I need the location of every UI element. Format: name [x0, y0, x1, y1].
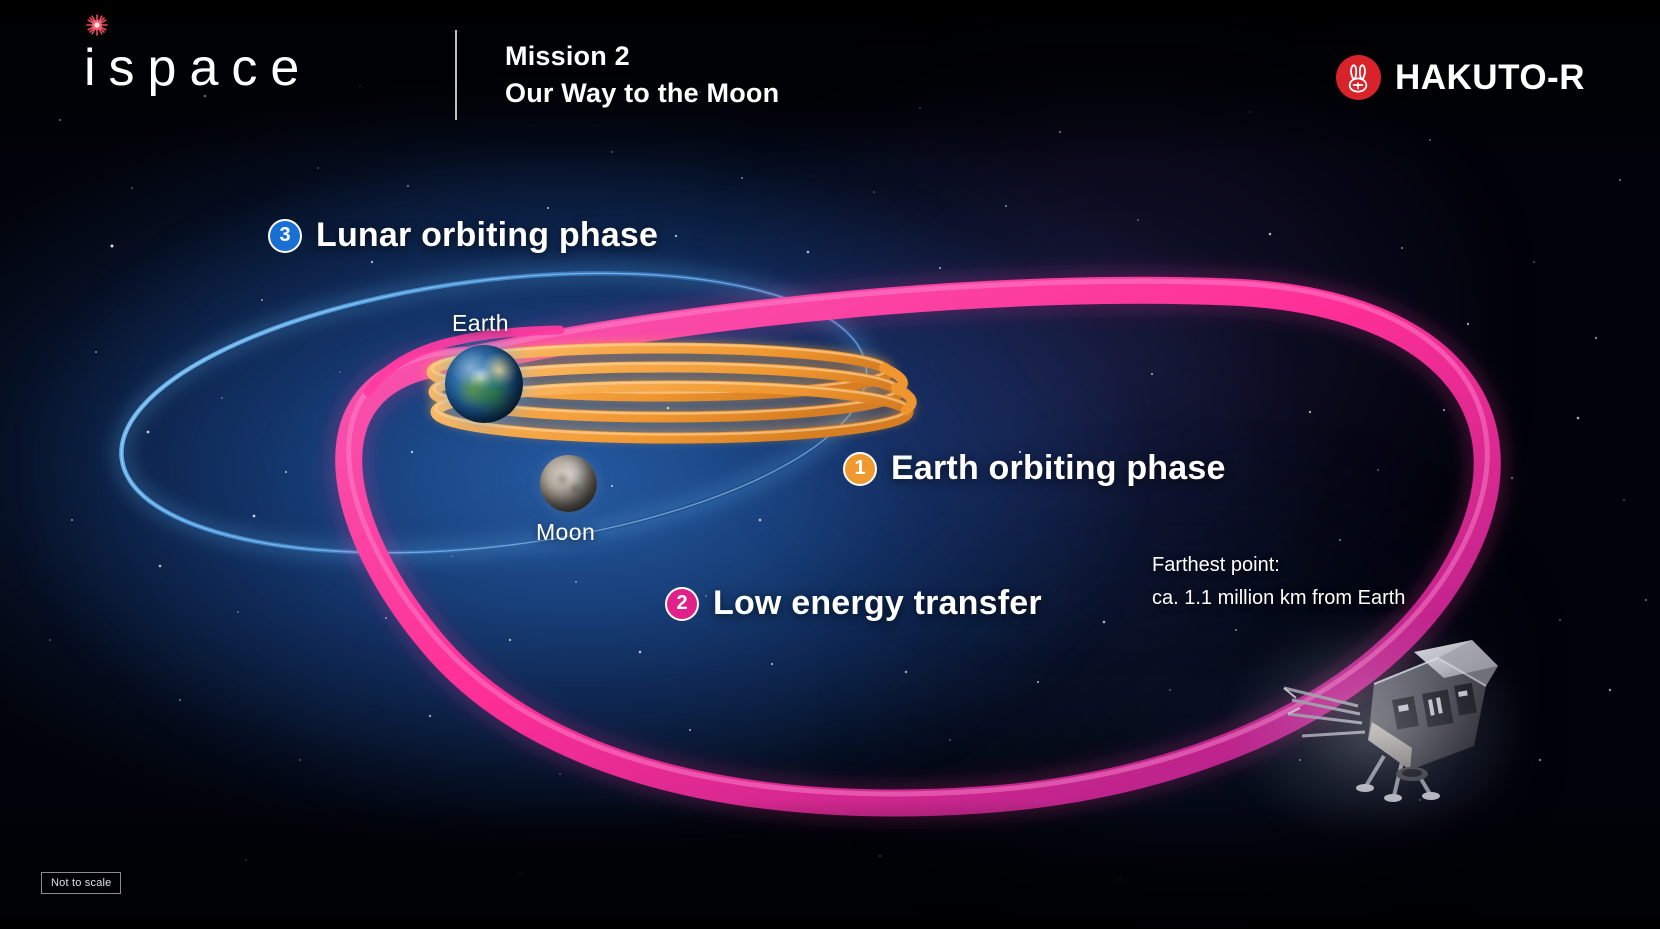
moon-icon: [540, 455, 597, 512]
header: ispace Mission 2 Our Way to the M: [0, 0, 1660, 150]
phase-text-earth-orbiting: Earth orbiting phase: [891, 449, 1226, 488]
spacecraft: [1262, 628, 1500, 813]
earth-label: Earth: [452, 310, 509, 337]
annotation-line-2: ca. 1.1 million km from Earth: [1152, 582, 1405, 615]
phase-label-earth-orbiting[interactable]: 1 Earth orbiting phase: [843, 449, 1226, 488]
earth-globe-icon: [445, 345, 523, 423]
moon-label: Moon: [536, 519, 595, 546]
bottom-fade: [0, 799, 1660, 929]
farthest-point-annotation: Farthest point: ca. 1.1 million km from …: [1152, 549, 1405, 615]
mission-title: Mission 2 Our Way to the Moon: [505, 38, 779, 113]
hakuto-mark: [1336, 55, 1381, 100]
phase-badge-3: 3: [268, 219, 302, 253]
mission-title-line-2: Our Way to the Moon: [505, 75, 779, 112]
rabbit-icon: [1341, 61, 1375, 95]
phase-label-low-energy-transfer[interactable]: 2 Low energy transfer: [665, 584, 1042, 623]
not-to-scale-badge: Not to scale: [41, 872, 121, 894]
ispace-wordmark: ispace: [84, 42, 312, 94]
phase-badge-1: 1: [843, 452, 877, 486]
phase-label-lunar-orbiting[interactable]: 3 Lunar orbiting phase: [268, 216, 658, 255]
hakuto-wordmark: HAKUTO-R: [1395, 58, 1585, 98]
hakuto-r-logo[interactable]: HAKUTO-R: [1336, 55, 1585, 100]
phase-text-lunar-orbiting: Lunar orbiting phase: [316, 216, 658, 255]
phase-text-low-energy-transfer: Low energy transfer: [713, 584, 1042, 623]
mission-title-line-1: Mission 2: [505, 38, 779, 75]
annotation-line-1: Farthest point:: [1152, 549, 1405, 582]
mission-diagram-canvas: Earth Moon: [0, 0, 1660, 929]
starburst-icon: [86, 14, 108, 36]
ispace-logo[interactable]: ispace: [84, 42, 312, 94]
phase-badge-2: 2: [665, 587, 699, 621]
header-divider: [455, 30, 457, 120]
